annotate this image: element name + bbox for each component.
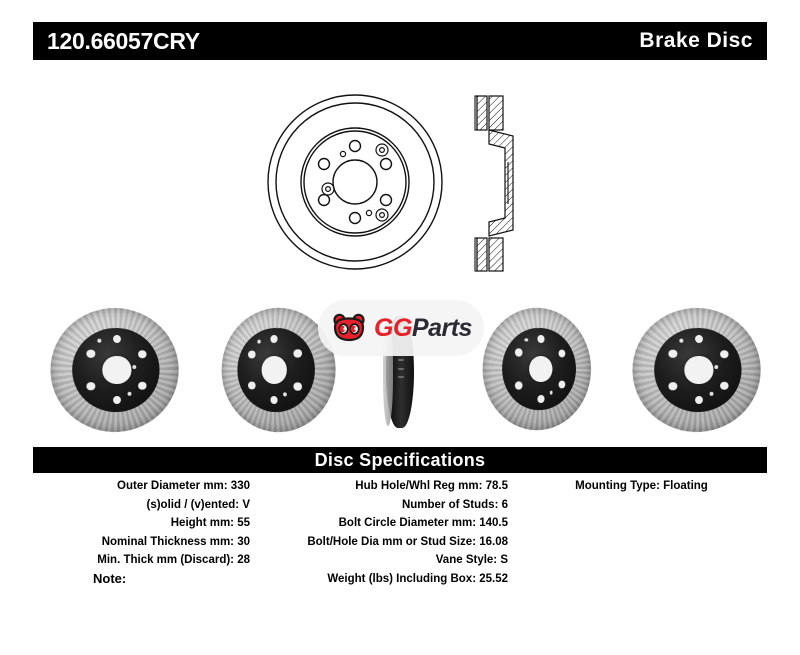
header-bar: 120.66057CRY Brake Disc	[33, 22, 767, 60]
rotor-face-line-drawing	[265, 92, 445, 272]
spec-banner-title: Disc Specifications	[315, 450, 486, 471]
bear-head-icon	[332, 313, 366, 343]
spec-item: Nominal Thickness mm: 30	[33, 533, 250, 552]
note-row: Note:	[33, 570, 767, 588]
watermark-brand: GGParts	[374, 314, 472, 343]
spec-item: Min. Thick mm (Discard): 28	[33, 551, 250, 570]
part-number: 120.66057CRY	[47, 28, 200, 55]
spec-item: Outer Diameter mm: 330	[33, 477, 250, 496]
spec-item: Bolt Circle Diameter mm: 140.5	[258, 514, 508, 533]
page-title: Brake Disc	[639, 29, 753, 53]
spec-item: Mounting Type: Floating	[516, 477, 767, 496]
note-label: Note:	[93, 571, 126, 586]
spec-item: Vane Style: S	[258, 551, 508, 570]
watermark-logo: GGParts	[318, 300, 484, 356]
watermark-brand-gg: GG	[374, 314, 412, 342]
watermark-brand-parts: Parts	[412, 314, 472, 342]
technical-drawings	[33, 70, 767, 285]
spec-item: Height mm: 55	[33, 514, 250, 533]
rotor-cross-section-line-drawing	[461, 92, 531, 274]
rotor-photo-face-left	[51, 308, 183, 432]
rotor-photo-angled-2	[481, 308, 601, 430]
spec-item: (s)olid / (v)ented: V	[33, 496, 250, 515]
spec-item: Number of Studs: 6	[258, 496, 508, 515]
spec-item: Hub Hole/Whl Reg mm: 78.5	[258, 477, 508, 496]
rotor-photo-face-right	[633, 308, 765, 432]
spec-item: Bolt/Hole Dia mm or Stud Size: 16.08	[258, 533, 508, 552]
spec-banner: Disc Specifications	[33, 447, 767, 473]
